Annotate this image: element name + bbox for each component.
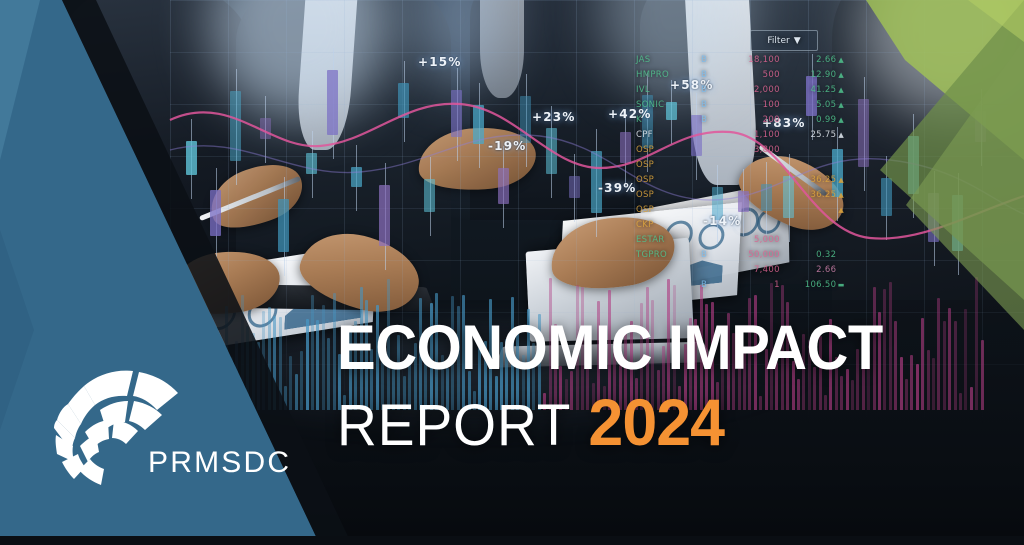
ticker-row[interactable]: OSP36.25▲ — [636, 172, 846, 187]
economic-impact-report-banner: +15%+23%-19%+42%+58%-39%+83%-14% Filter … — [0, 0, 1024, 545]
ticker-price: 106.50 — [780, 280, 837, 290]
ticker-symbol: HMPRO — [636, 70, 690, 80]
ticker-row[interactable]: TGPROB50,0000.32 — [636, 247, 846, 262]
ticker-volume: 1,100 — [718, 130, 780, 140]
ticker-price: 2.66 — [780, 55, 837, 65]
ticker-symbol: CPF — [636, 130, 690, 140]
ticker-trend-icon: ▲ — [836, 176, 846, 184]
ticker-price: 36.25 — [780, 190, 837, 200]
ticker-side: B — [690, 280, 717, 290]
ticker-volume: 7,400 — [718, 265, 780, 275]
ticker-trend-icon: ▲ — [836, 191, 846, 199]
ticker-volume: 18,100 — [718, 55, 780, 65]
ticker-side: B — [690, 85, 717, 95]
chevron-down-icon: ▼ — [794, 36, 801, 46]
filter-button[interactable]: Filter ▼ — [750, 30, 818, 51]
ticker-volume: 100 — [718, 100, 780, 110]
ticker-price: 36.25 — [780, 175, 837, 185]
ticker-symbol: K — [636, 115, 690, 125]
ticker-trend-icon: ▲ — [836, 71, 846, 79]
ticker-side: B — [690, 70, 717, 80]
subtitle-word: REPORT — [337, 393, 571, 458]
report-year: 2024 — [588, 385, 724, 459]
prmsdc-logo: PRMSDC — [38, 362, 278, 497]
ticker-side: B — [690, 55, 717, 65]
ticker-trend-icon: ▲ — [836, 101, 846, 109]
bottom-band — [0, 536, 1024, 545]
ticker-symbol: SONIC — [636, 100, 690, 110]
ticker-trend-icon: ▲ — [836, 206, 846, 214]
ticker-side: B — [690, 100, 717, 110]
ticker-volume: 5,000 — [718, 235, 780, 245]
ticker-symbol: OSP — [636, 145, 690, 155]
ticker-price: 25.75 — [780, 130, 837, 140]
ticker-row[interactable]: OSP36.25▲ — [636, 187, 846, 202]
ticker-symbol: OSP — [636, 160, 690, 170]
ticker-volume: 200 — [718, 115, 780, 125]
page-subtitle: REPORT2024 — [337, 384, 964, 460]
ticker-symbol: ESTAR — [636, 235, 690, 245]
ticker-price: 5.05 — [780, 100, 837, 110]
ticker-trend-icon: ▲ — [836, 86, 846, 94]
ticker-trend-icon: ▲ — [836, 116, 846, 124]
ticker-volume: 500 — [718, 70, 780, 80]
ticker-row[interactable]: OSP — [636, 157, 846, 172]
ticker-row[interactable]: 7,4002.66 — [636, 262, 846, 277]
ticker-row[interactable]: ESTAR5,000 — [636, 232, 846, 247]
hand — [415, 122, 539, 196]
ticker-price: 2.66 — [780, 265, 837, 275]
ticker-side: B — [690, 115, 717, 125]
ticker-row[interactable]: CPF1,10025.75▲ — [636, 127, 846, 142]
ticker-volume: 1 — [718, 280, 780, 290]
ticker-volume: 3,800 — [718, 145, 780, 155]
ticker-volume: 50,000 — [718, 250, 780, 260]
ticker-symbol: OSP — [636, 190, 690, 200]
ticker-row[interactable]: OSP3,800 — [636, 142, 846, 157]
stock-ticker-table[interactable]: JASB18,1002.66▲HMPROB50012.90▲IVLB2,0004… — [636, 52, 846, 292]
filter-label: Filter — [767, 36, 789, 46]
ticker-price: 41.25 — [780, 85, 837, 95]
ticker-side: B — [690, 250, 717, 260]
ticker-price: 0.32 — [780, 250, 837, 260]
ticker-row[interactable]: CKP — [636, 217, 846, 232]
ticker-price: 0.99 — [780, 115, 837, 125]
logo-wordmark: PRMSDC — [148, 446, 291, 480]
ticker-volume: 2,000 — [718, 85, 780, 95]
ticker-row[interactable]: IVLB2,00041.25▲ — [636, 82, 846, 97]
ticker-trend-icon: ▬ — [836, 281, 846, 289]
ticker-price: 12.90 — [780, 70, 837, 80]
ticker-row[interactable]: B1106.50▬ — [636, 277, 846, 292]
ticker-trend-icon: ▲ — [836, 131, 846, 139]
ticker-symbol: CKP — [636, 220, 690, 230]
ticker-row[interactable]: SONICB1005.05▲ — [636, 97, 846, 112]
ticker-row[interactable]: KB2000.99▲ — [636, 112, 846, 127]
ticker-symbol: OSP — [636, 175, 690, 185]
ticker-trend-icon: ▲ — [836, 56, 846, 64]
ticker-symbol: IVL — [636, 85, 690, 95]
ticker-row[interactable]: HMPROB50012.90▲ — [636, 67, 846, 82]
title-block: ECONOMIC IMPACT REPORT2024 — [337, 318, 997, 460]
ticker-symbol: OSP — [636, 205, 690, 215]
ticker-row[interactable]: OSP▲ — [636, 202, 846, 217]
page-title: ECONOMIC IMPACT — [337, 318, 944, 378]
ticker-symbol: TGPRO — [636, 250, 690, 260]
ticker-symbol: JAS — [636, 55, 690, 65]
ticker-row[interactable]: JASB18,1002.66▲ — [636, 52, 846, 67]
